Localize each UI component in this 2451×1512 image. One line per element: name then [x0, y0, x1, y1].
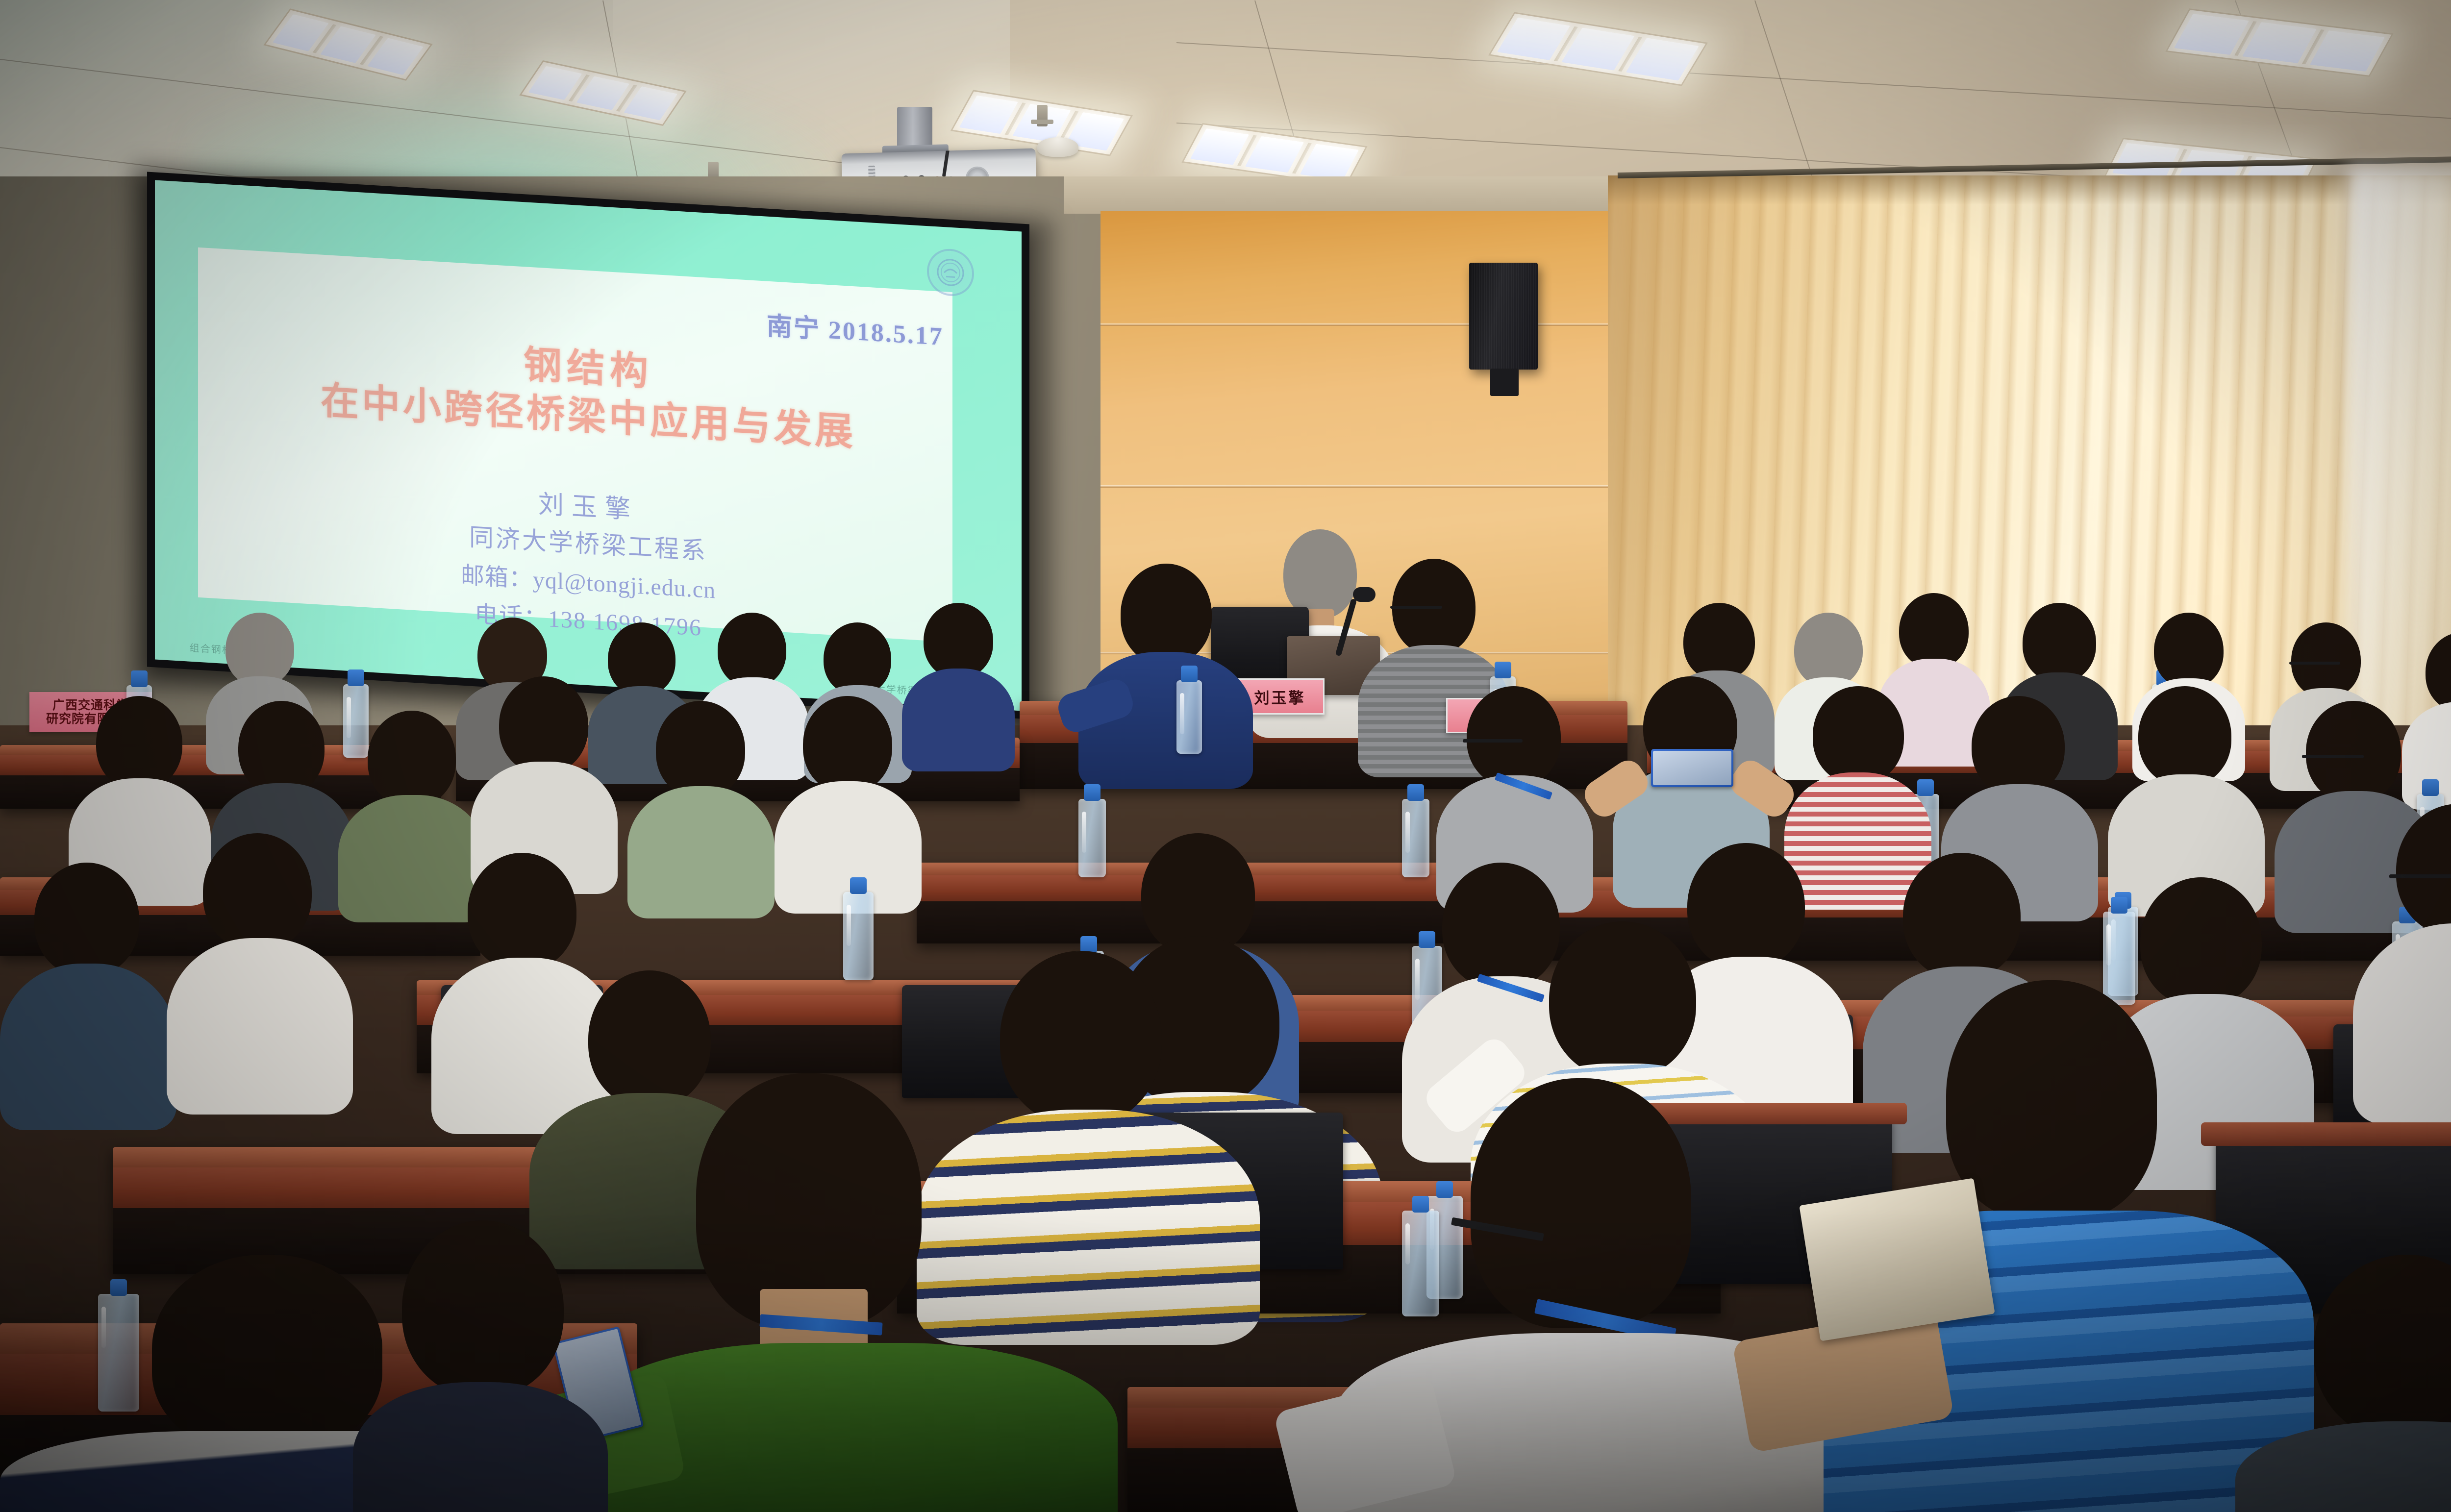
- head: [1121, 564, 1212, 665]
- head: [402, 1220, 564, 1397]
- smartphone[interactable]: [1651, 749, 1733, 787]
- attendee: [2108, 686, 2265, 902]
- head: [499, 676, 588, 773]
- conference-room-photo: 南宁 2018.5.17 钢结构 在中小跨径桥梁中应用与发展 刘玉擎 同济大学桥…: [0, 0, 2451, 1512]
- head: [1683, 603, 1755, 680]
- sprinkler-head: [1037, 105, 1048, 126]
- glasses-icon: [1390, 606, 1442, 609]
- attendee-green-shirt: [549, 1073, 1127, 1512]
- head: [2396, 804, 2451, 936]
- head: [225, 613, 294, 686]
- head: [2291, 622, 2361, 698]
- head: [924, 603, 993, 678]
- head: [1467, 686, 1561, 787]
- water-bottle[interactable]: [843, 892, 874, 980]
- wood-panel-reveal: [1100, 485, 1620, 488]
- head: [1903, 853, 2021, 979]
- attendee: [775, 696, 922, 902]
- shirt: [167, 938, 353, 1115]
- head: [152, 1255, 382, 1451]
- head: [1471, 1078, 1691, 1328]
- head: [368, 711, 456, 807]
- speaker-bracket: [1490, 369, 1519, 396]
- head: [803, 696, 892, 793]
- head: [1899, 593, 1969, 669]
- shirt: [627, 786, 775, 918]
- head: [96, 696, 182, 790]
- head: [34, 863, 139, 976]
- head: [1794, 613, 1863, 687]
- smoke-detector: [1037, 137, 1078, 157]
- head: [1972, 696, 2065, 796]
- glasses-icon: [2389, 874, 2451, 878]
- shirt: [353, 1382, 608, 1512]
- head: [824, 622, 891, 695]
- head: [1549, 921, 1696, 1078]
- shirt: [0, 964, 176, 1130]
- head: [718, 613, 786, 687]
- head: [2314, 1255, 2451, 1441]
- head: [2426, 632, 2451, 712]
- attendee-white-polo: [1324, 1078, 1887, 1512]
- head: [1813, 686, 1904, 784]
- shirt: [2353, 923, 2451, 1124]
- glasses-icon: [2289, 662, 2340, 665]
- handout-paper[interactable]: [1799, 1178, 1995, 1341]
- attendee: [2235, 1255, 2451, 1512]
- head: [1946, 980, 2157, 1220]
- head: [608, 622, 675, 696]
- water-bottle[interactable]: [1078, 799, 1106, 877]
- glasses-icon: [2302, 755, 2364, 758]
- head: [2023, 603, 2096, 682]
- water-bottle[interactable]: [1176, 680, 1202, 754]
- attendee-front-blue: [1078, 564, 1255, 774]
- glasses-icon: [1463, 739, 1523, 743]
- attendee: [2353, 804, 2451, 1117]
- attendee: [353, 1220, 608, 1512]
- head: [2154, 613, 2224, 688]
- curtain-header-shadow: [1608, 175, 2451, 205]
- university-seal-icon: [927, 248, 974, 297]
- wall-speaker: [1469, 263, 1538, 370]
- head: [656, 701, 745, 798]
- attendee: [627, 701, 775, 907]
- attendee: [167, 833, 353, 1108]
- head: [238, 701, 325, 795]
- shirt: [2235, 1421, 2451, 1512]
- attendee: [0, 863, 176, 1117]
- head: [2138, 686, 2231, 786]
- head: [203, 833, 312, 951]
- wood-panel-reveal: [1100, 323, 1620, 326]
- head: [2306, 701, 2401, 803]
- presenter-head: [1283, 529, 1357, 619]
- attendee: [471, 676, 618, 882]
- head: [468, 853, 576, 970]
